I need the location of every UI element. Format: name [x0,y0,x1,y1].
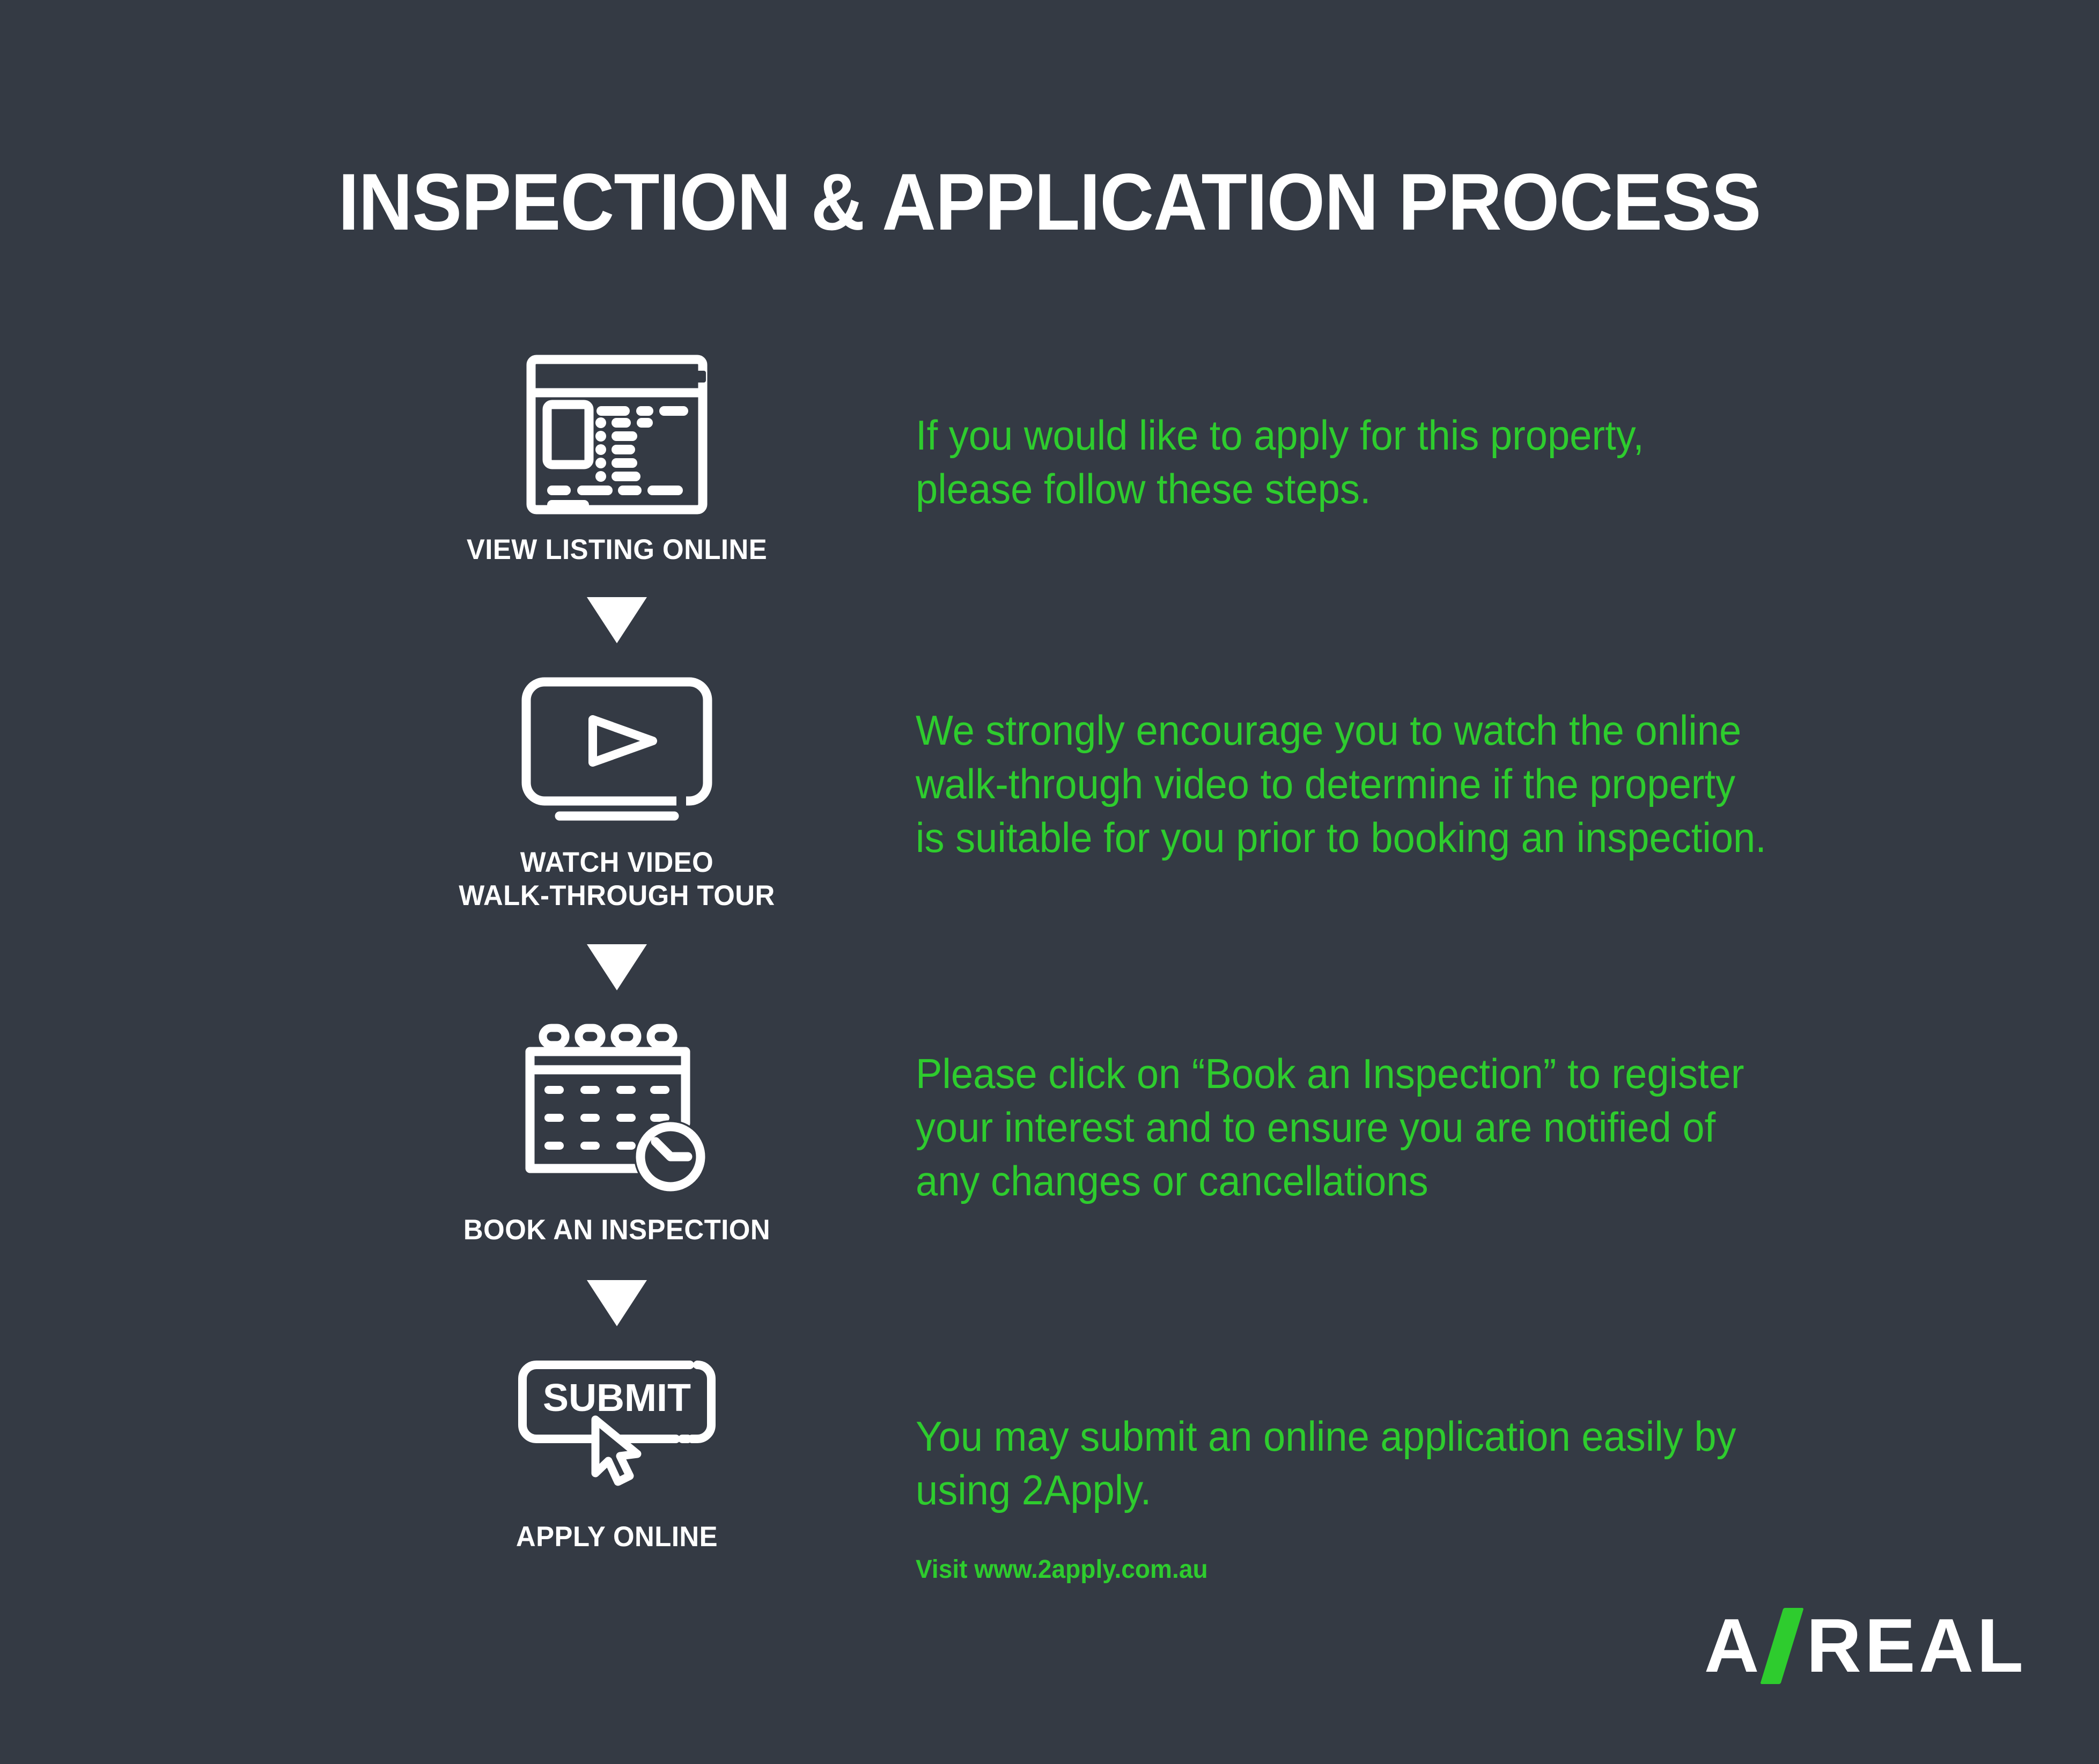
submit-button-text: SUBMIT [543,1377,691,1420]
visit-2apply-link[interactable]: Visit www.2apply.com.au [916,1555,1208,1584]
down-triangle-arrow-icon [587,597,647,643]
step-2-label-line1: WATCH VIDEO [344,846,890,880]
listing-page-icon [526,354,708,515]
areal-logo[interactable]: A REAL [1704,1603,2027,1689]
step-1-label: VIEW LISTING ONLINE [344,533,890,567]
video-play-monitor-icon [518,672,716,828]
logo-slash-icon [1761,1608,1804,1684]
step-3-label: BOOK AN INSPECTION [344,1214,890,1247]
down-triangle-arrow-icon [587,944,647,990]
flow-arrow-2 [333,944,901,990]
calendar-clock-icon [515,1018,719,1195]
logo-letter-a: A [1704,1608,1763,1684]
step-apply-online[interactable]: SUBMIT APPLY ONLINE [333,1357,901,1554]
paragraph-apply-online: You may submit an online application eas… [916,1410,1884,1517]
step-view-listing-online[interactable]: VIEW LISTING ONLINE [333,354,901,567]
step-watch-video-walkthrough[interactable]: WATCH VIDEO WALK-THROUGH TOUR [333,672,901,913]
step-1-icon-wrap [333,354,901,515]
paragraph-apply-intro: If you would like to apply for this prop… [916,409,1884,516]
step-4-icon-wrap: SUBMIT [333,1357,901,1502]
step-2-label-line2: WALK-THROUGH TOUR [344,879,890,913]
step-4-label: APPLY ONLINE [344,1520,890,1554]
process-flow-column: VIEW LISTING ONLINE WATCH VIDEO [333,354,901,1554]
page-title: INSPECTION & APPLICATION PROCESS [73,156,2026,248]
infographic-page: INSPECTION & APPLICATION PROCESS [0,0,2099,1764]
step-2-icon-wrap [333,672,901,828]
down-triangle-arrow-icon [587,1280,647,1326]
step-3-icon-wrap [333,1018,901,1195]
paragraph-book-inspection: Please click on “Book an Inspection” to … [916,1047,1935,1208]
step-book-an-inspection[interactable]: BOOK AN INSPECTION [333,1018,901,1247]
step-2-label: WATCH VIDEO WALK-THROUGH TOUR [344,846,890,913]
logo-word-real: REAL [1806,1608,2027,1684]
flow-arrow-1 [333,597,901,643]
submit-button-cursor-icon: SUBMIT [515,1357,719,1502]
flow-arrow-3 [333,1280,901,1326]
paragraph-watch-video: We strongly encourage you to watch the o… [916,704,1935,864]
